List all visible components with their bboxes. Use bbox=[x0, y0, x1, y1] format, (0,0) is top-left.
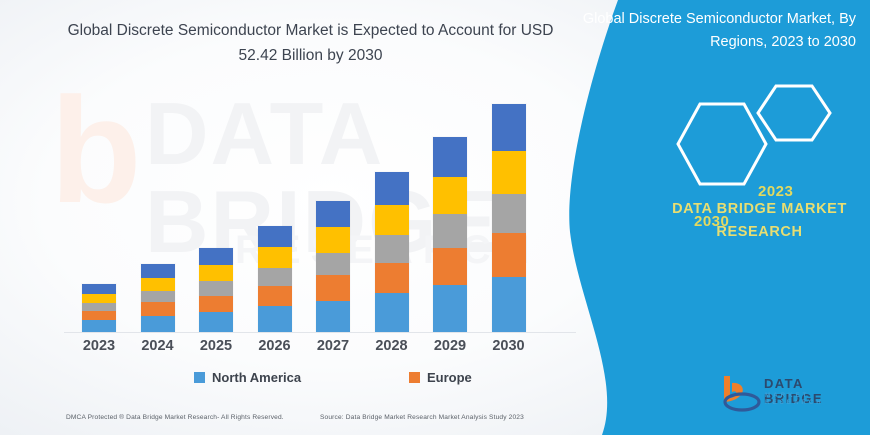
bar-segment[interactable] bbox=[492, 151, 526, 195]
bar-segment[interactable] bbox=[199, 248, 233, 265]
bar-segment[interactable] bbox=[258, 286, 292, 306]
bar-group[interactable] bbox=[258, 226, 292, 332]
bar-segment[interactable] bbox=[433, 285, 467, 332]
bar-segment[interactable] bbox=[258, 306, 292, 332]
bar-group[interactable] bbox=[316, 201, 350, 332]
hexagon-2030-shape bbox=[678, 104, 766, 184]
bar-segment[interactable] bbox=[433, 248, 467, 285]
bar-segment[interactable] bbox=[316, 275, 350, 300]
bar-segment[interactable] bbox=[492, 233, 526, 277]
hexagon-badges: 2030 2023 bbox=[672, 82, 862, 187]
stacked-bar-chart bbox=[64, 86, 574, 332]
bar-segment[interactable] bbox=[141, 302, 175, 315]
bar-segment[interactable] bbox=[316, 227, 350, 252]
panel-title: Global Discrete Semiconductor Market, By… bbox=[578, 8, 856, 54]
x-axis-labels: 20232024202520262027202820292030 bbox=[64, 338, 576, 362]
x-axis-label: 2028 bbox=[362, 338, 422, 354]
logo-tagline: MARKET RESEARCH bbox=[765, 392, 863, 406]
panel-brand-line-1: DATA BRIDGE MARKET bbox=[652, 198, 867, 221]
bar-segment[interactable] bbox=[82, 320, 116, 332]
bar-segment[interactable] bbox=[258, 247, 292, 267]
hexagon-2023-shape bbox=[758, 86, 830, 140]
bar-segment[interactable] bbox=[82, 303, 116, 311]
x-axis-label: 2026 bbox=[245, 338, 305, 354]
bar-segment[interactable] bbox=[375, 263, 409, 293]
footer-dmca-text: DMCA Protected ® Data Bridge Market Rese… bbox=[66, 414, 284, 421]
bar-segment[interactable] bbox=[141, 316, 175, 332]
legend-label: Europe bbox=[427, 370, 472, 385]
bar-segment[interactable] bbox=[492, 277, 526, 332]
chart-legend: North AmericaEurope bbox=[64, 370, 576, 392]
bar-group[interactable] bbox=[492, 104, 526, 332]
bar-group[interactable] bbox=[375, 172, 409, 332]
bar-group[interactable] bbox=[141, 264, 175, 332]
bar-segment[interactable] bbox=[375, 172, 409, 204]
bar-segment[interactable] bbox=[258, 226, 292, 248]
footer: DMCA Protected ® Data Bridge Market Rese… bbox=[0, 404, 640, 430]
bar-segment[interactable] bbox=[375, 235, 409, 263]
logo-mark-icon bbox=[718, 372, 764, 412]
bar-segment[interactable] bbox=[199, 281, 233, 296]
legend-label: North America bbox=[212, 370, 301, 385]
legend-item[interactable]: North America bbox=[194, 370, 301, 385]
bar-segment[interactable] bbox=[199, 312, 233, 332]
bar-segment[interactable] bbox=[141, 278, 175, 291]
page-title: Global Discrete Semiconductor Market is … bbox=[58, 18, 563, 68]
bar-group[interactable] bbox=[433, 137, 467, 332]
infographic-canvas: b DATA BRIDGE RESEARCH Global Discrete S… bbox=[0, 0, 870, 435]
x-axis-label: 2023 bbox=[69, 338, 129, 354]
bar-segment[interactable] bbox=[375, 205, 409, 235]
legend-swatch bbox=[409, 372, 420, 383]
legend-item[interactable]: Europe bbox=[409, 370, 472, 385]
legend-swatch bbox=[194, 372, 205, 383]
x-axis-line bbox=[64, 332, 576, 333]
bar-segment[interactable] bbox=[316, 201, 350, 228]
bar-segment[interactable] bbox=[199, 296, 233, 312]
bar-segment[interactable] bbox=[82, 294, 116, 303]
x-axis-label: 2027 bbox=[303, 338, 363, 354]
bar-segment[interactable] bbox=[433, 214, 467, 247]
bar-segment[interactable] bbox=[492, 104, 526, 150]
bar-segment[interactable] bbox=[433, 177, 467, 214]
x-axis-label: 2029 bbox=[420, 338, 480, 354]
bar-group[interactable] bbox=[82, 284, 116, 332]
bar-segment[interactable] bbox=[199, 265, 233, 281]
bar-segment[interactable] bbox=[492, 194, 526, 233]
bar-segment[interactable] bbox=[82, 311, 116, 320]
x-axis-label: 2025 bbox=[186, 338, 246, 354]
bar-group[interactable] bbox=[199, 248, 233, 332]
bar-segment[interactable] bbox=[141, 291, 175, 303]
bar-segment[interactable] bbox=[316, 253, 350, 276]
panel-brand-line-2: RESEARCH bbox=[652, 221, 867, 244]
bar-segment[interactable] bbox=[375, 293, 409, 332]
bar-segment[interactable] bbox=[316, 301, 350, 332]
data-bridge-logo: DATA BRIDGE MARKET RESEARCH bbox=[718, 372, 863, 414]
x-axis-label: 2024 bbox=[128, 338, 188, 354]
footer-source-text: Source: Data Bridge Market Research Mark… bbox=[320, 414, 524, 421]
bar-segment[interactable] bbox=[433, 137, 467, 177]
bar-segment[interactable] bbox=[82, 284, 116, 294]
x-axis-label: 2030 bbox=[479, 338, 539, 354]
bar-segment[interactable] bbox=[141, 264, 175, 278]
bar-segment[interactable] bbox=[258, 268, 292, 286]
panel-brand-text: DATA BRIDGE MARKET RESEARCH bbox=[652, 198, 867, 244]
